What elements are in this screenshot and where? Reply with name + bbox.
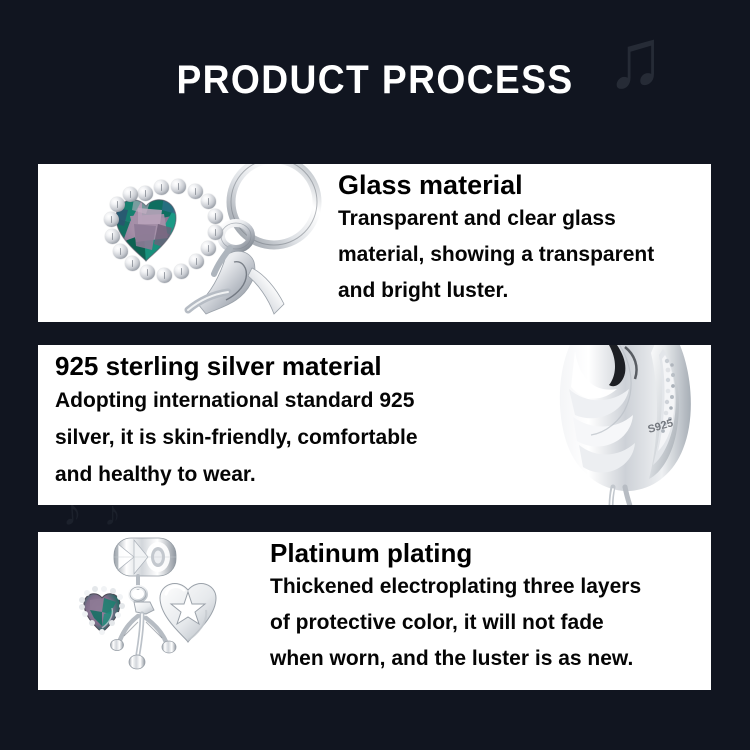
- panel-body-line: and bright luster.: [338, 273, 707, 309]
- feature-panel-platinum-plating: Platinum plating Thickened electroplatin…: [38, 532, 711, 690]
- panel-body-line: silver, it is skin-friendly, comfortable: [55, 419, 539, 456]
- panel-image-silver-macro: S925: [539, 345, 711, 505]
- panel-body-line: Adopting international standard 925: [55, 382, 539, 419]
- panel-text-platinum-plating: Platinum plating Thickened electroplatin…: [268, 532, 711, 690]
- panel-body-line: Thickened electroplating three layers: [270, 569, 705, 605]
- heart-gemstone-illustration: [38, 164, 334, 322]
- full-charm-illustration: [38, 532, 268, 690]
- panel-body-line: when worn, and the luster is as new.: [270, 641, 705, 677]
- infographic-page: ♫ ♪ ♪ PRODUCT PROCESS: [0, 0, 750, 750]
- feature-panel-sterling-silver: 925 sterling silver material Adopting in…: [38, 345, 711, 505]
- panel-body-line: Transparent and clear glass: [338, 201, 707, 237]
- panel-text-glass-material: Glass material Transparent and clear gla…: [334, 164, 711, 322]
- panel-heading: 925 sterling silver material: [55, 351, 539, 381]
- panel-body-line: and healthy to wear.: [55, 456, 539, 493]
- feature-panel-glass-material: Glass material Transparent and clear gla…: [38, 164, 711, 322]
- panel-image-full-charm: [38, 532, 268, 690]
- silver-charm-macro-illustration: S925: [539, 345, 711, 505]
- charm-bail: [114, 538, 176, 576]
- panel-heading: Glass material: [338, 170, 707, 200]
- panel-body-line: of protective color, it will not fade: [270, 605, 705, 641]
- panel-heading: Platinum plating: [270, 538, 705, 568]
- panel-image-heart-gemstone: [38, 164, 334, 322]
- panel-body-line: material, showing a transparent: [338, 237, 707, 273]
- panel-text-sterling-silver: 925 sterling silver material Adopting in…: [38, 345, 539, 505]
- page-title: PRODUCT PROCESS: [26, 58, 724, 103]
